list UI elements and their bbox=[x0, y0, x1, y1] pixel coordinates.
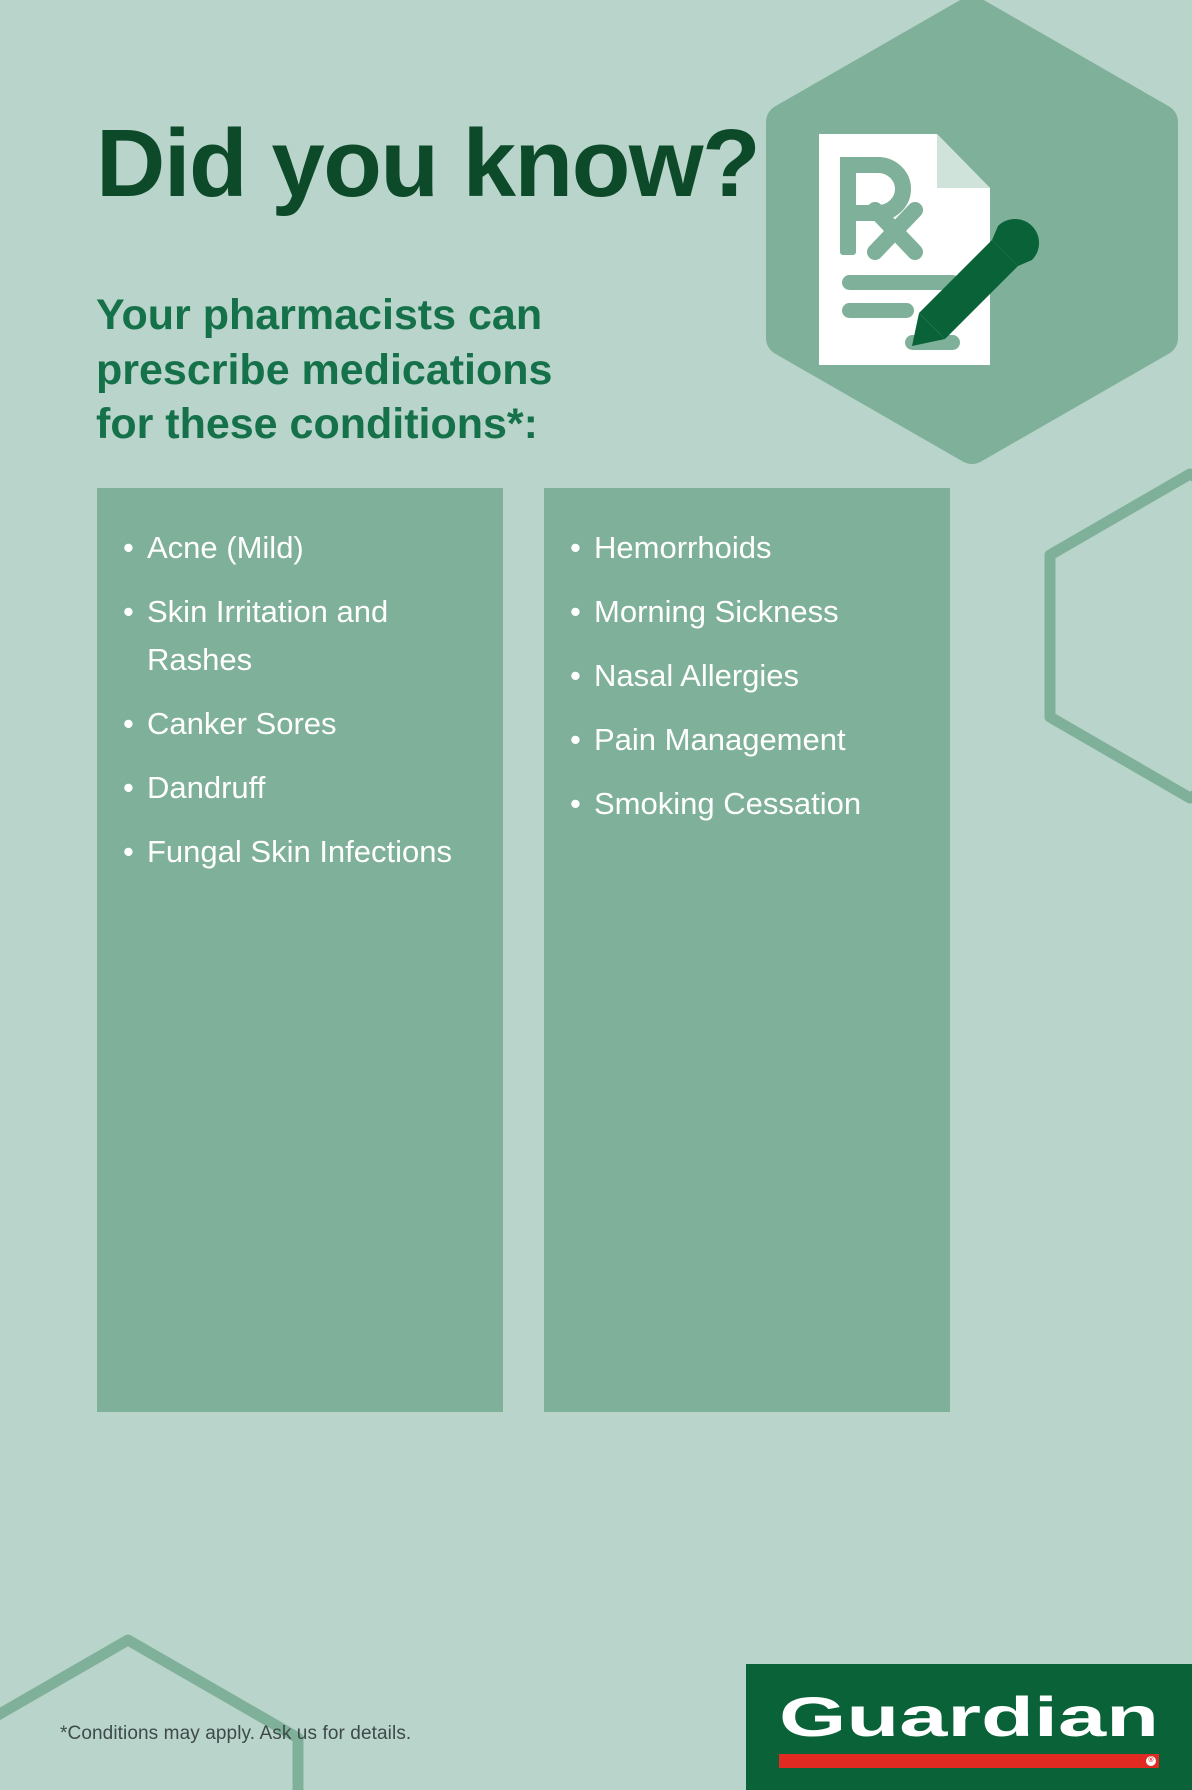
guardian-wordmark: Guardian bbox=[779, 1690, 1159, 1746]
list-item: • Fungal Skin Infections bbox=[119, 828, 481, 876]
conditions-list-right: • Hemorrhoids • Morning Sickness • Nasal… bbox=[544, 488, 950, 828]
prescription-document-icon bbox=[742, 10, 1192, 470]
bullet-icon: • bbox=[123, 828, 134, 876]
list-item-label: Acne (Mild) bbox=[147, 530, 304, 565]
list-item: • Acne (Mild) bbox=[119, 524, 481, 572]
bullet-icon: • bbox=[570, 652, 581, 700]
list-item-label: Dandruff bbox=[147, 770, 265, 805]
subtitle-line-1: Your pharmacists can bbox=[96, 288, 656, 343]
list-item: • Hemorrhoids bbox=[566, 524, 928, 572]
bullet-icon: • bbox=[570, 588, 581, 636]
list-item-label: Fungal Skin Infections bbox=[147, 834, 452, 869]
list-item-label: Morning Sickness bbox=[594, 594, 839, 629]
list-item-label: Hemorrhoids bbox=[594, 530, 771, 565]
list-item: • Skin Irritation and Rashes bbox=[119, 588, 481, 684]
bullet-icon: • bbox=[570, 524, 581, 572]
subtitle-line-2: prescribe medications bbox=[96, 343, 656, 398]
guardian-wordmark-text: Guardian bbox=[779, 1690, 1159, 1746]
conditions-card-right: • Hemorrhoids • Morning Sickness • Nasal… bbox=[544, 488, 950, 1412]
list-item: • Dandruff bbox=[119, 764, 481, 812]
guardian-underline-bar: ® bbox=[779, 1754, 1159, 1768]
page-subtitle: Your pharmacists can prescribe medicatio… bbox=[96, 288, 656, 452]
list-item-label: Skin Irritation and Rashes bbox=[147, 594, 388, 677]
list-item-label: Smoking Cessation bbox=[594, 786, 861, 821]
bullet-icon: • bbox=[123, 764, 134, 812]
page-title: Did you know? bbox=[96, 116, 759, 212]
bullet-icon: • bbox=[570, 716, 581, 764]
list-item: • Smoking Cessation bbox=[566, 780, 928, 828]
list-item-label: Canker Sores bbox=[147, 706, 337, 741]
list-item: • Nasal Allergies bbox=[566, 652, 928, 700]
bullet-icon: • bbox=[123, 588, 134, 636]
guardian-logo: Guardian ® bbox=[746, 1664, 1192, 1790]
list-item: • Canker Sores bbox=[119, 700, 481, 748]
list-item-label: Pain Management bbox=[594, 722, 846, 757]
subtitle-line-3: for these conditions*: bbox=[96, 397, 656, 452]
list-item: • Morning Sickness bbox=[566, 588, 928, 636]
list-item-label: Nasal Allergies bbox=[594, 658, 799, 693]
bullet-icon: • bbox=[123, 700, 134, 748]
conditions-list-left: • Acne (Mild) • Skin Irritation and Rash… bbox=[97, 488, 503, 876]
bullet-icon: • bbox=[123, 524, 134, 572]
list-item: • Pain Management bbox=[566, 716, 928, 764]
conditions-card-left: • Acne (Mild) • Skin Irritation and Rash… bbox=[97, 488, 503, 1412]
bullet-icon: • bbox=[570, 780, 581, 828]
footnote-text: *Conditions may apply. Ask us for detail… bbox=[60, 1723, 411, 1745]
poster-canvas: Did you know? Your pharmacists can presc… bbox=[0, 0, 1192, 1790]
registered-mark-icon: ® bbox=[1146, 1756, 1156, 1766]
